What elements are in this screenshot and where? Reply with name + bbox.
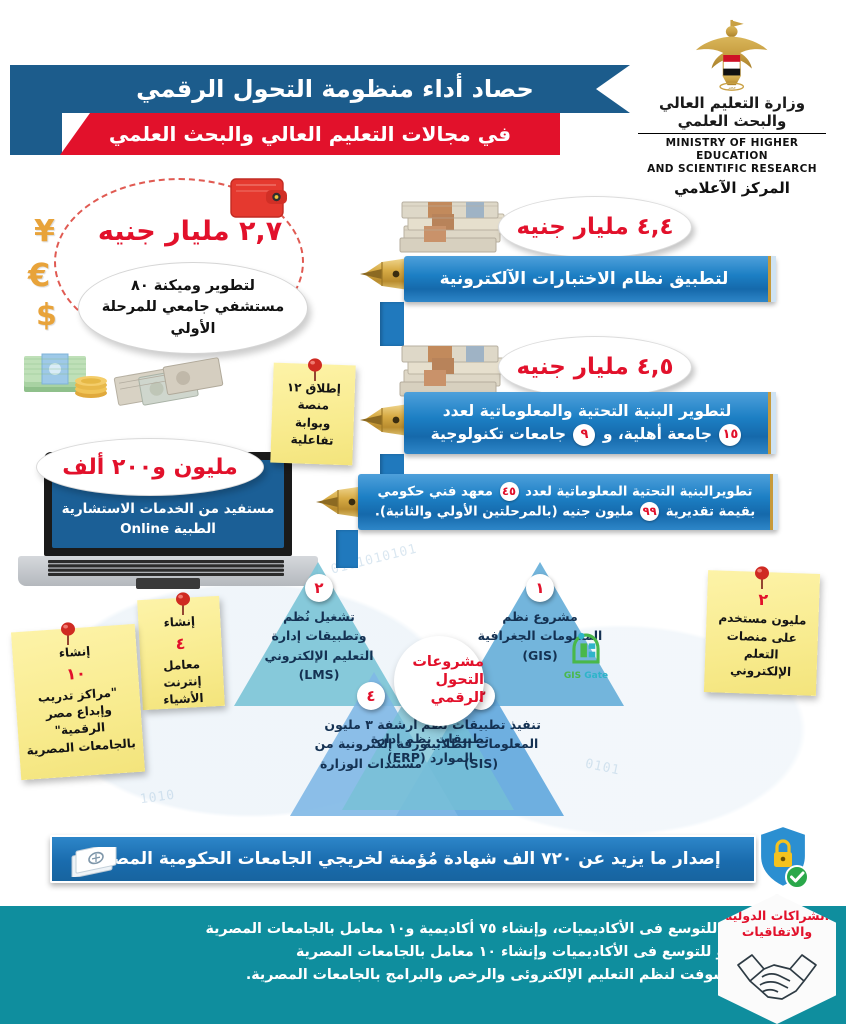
exams-value-oval: ٤,٤ مليار جنيه bbox=[498, 196, 692, 258]
binary-decor: 1010 bbox=[139, 788, 176, 808]
online-services-text: مستفيد من الخدمات الاستشارية الطبية Onli… bbox=[52, 499, 284, 540]
infrastructure-bar-mid: جامعة أهلية، و bbox=[603, 425, 712, 443]
triangle-item-2-label: تشغيل نُظم وتطبيقات إدارة التعليم الإلكت… bbox=[264, 609, 373, 682]
infrastructure-bar-line1: لتطوير البنية التحتية والمعلوماتية لعدد bbox=[443, 400, 732, 423]
bar-cap-gold bbox=[768, 392, 771, 454]
yen-symbol-icon: ¥ bbox=[34, 214, 55, 249]
bar-cap-light bbox=[773, 474, 778, 530]
exams-bar-text: لتطبيق نظام الاختبارات الآلكترونية bbox=[440, 269, 741, 289]
header-title-banner: حصاد أداء منظومة التحول الرقمي bbox=[10, 65, 630, 113]
elearning-note-number: ٢ bbox=[714, 586, 813, 613]
institutes-line2-pre: بقيمة تقديرية bbox=[666, 505, 755, 520]
bar-cap-gold bbox=[770, 474, 773, 530]
laptop-trackpad bbox=[136, 578, 200, 589]
platforms-note-text: إطلاق ١٢ منصة وبوابة تفاعلية bbox=[287, 380, 342, 448]
media-center-label: المركز الآعلامي bbox=[632, 179, 832, 197]
institutes-line2-post: مليون جنيه (بالمرحلتين الأولي والثانية). bbox=[375, 505, 634, 520]
badge-9: ٩ bbox=[573, 424, 595, 446]
infrastructure-bar: لتطوير البنية التحتية والمعلوماتية لعدد … bbox=[404, 392, 776, 454]
gis-gate-logo: GIS Gate bbox=[558, 630, 614, 681]
handshake-icon bbox=[734, 947, 820, 1005]
infographic-page: 0101010101 10101 0101 1010 1011010 حصاد … bbox=[0, 0, 846, 1024]
ministry-name-english-line1: MINISTRY OF HIGHER EDUCATION bbox=[632, 137, 832, 163]
ministry-name-english-line2: AND SCIENTIFIC RESEARCH bbox=[632, 163, 832, 176]
euro-symbol-icon: € bbox=[28, 256, 50, 294]
training-note-line2: "مراكز تدريب وإبداع مصر الرقمية" بالجامع… bbox=[22, 683, 137, 760]
gis-gate-logo-text: GIS Gate bbox=[558, 671, 614, 681]
institutes-line1-post: معهد فني حكومي bbox=[378, 484, 493, 499]
wallet-icon bbox=[230, 176, 288, 220]
triangle-center-text: مشروعات التحول الرقمي bbox=[394, 654, 484, 707]
badge-99: ٩٩ bbox=[640, 502, 659, 521]
exams-bar: لتطبيق نظام الاختبارات الآلكترونية bbox=[404, 256, 776, 302]
triangle-item-1-number: ١ bbox=[526, 574, 554, 602]
header-subtitle-banner: في مجالات التعليم العالي والبحث العلمي bbox=[60, 113, 560, 155]
certificates-text: إصدار ما يزيد عن ٧٢٠ الف شهادة مُؤمنة لخ… bbox=[85, 849, 720, 869]
institutes-bar: تطويرالبنية التحتية المعلوماتية لعدد ٤٥ … bbox=[358, 474, 778, 530]
bar-cap-light bbox=[771, 256, 776, 302]
online-services-value: مليون و٢٠٠ ألف bbox=[62, 455, 237, 480]
exams-value: ٤,٤ مليار جنيه bbox=[516, 214, 673, 240]
hospitals-description-oval: لتطوير وميكنة ٨٠ مستشفي جامعي للمرحلة ال… bbox=[78, 262, 308, 354]
exams-bar-wrap: لتطبيق نظام الاختبارات الآلكترونية bbox=[404, 256, 776, 302]
security-shield-icon bbox=[756, 824, 810, 890]
triangle-item-erp: تطبيقات نظم إدارة الموارد (ERP) bbox=[366, 728, 494, 767]
eagle-of-saladin-icon: مصر bbox=[693, 18, 771, 92]
hospitals-description: لتطوير وميكنة ٨٠ مستشفي جامعي للمرحلة ال… bbox=[79, 276, 307, 339]
institutes-bar-wrap: تطويرالبنية التحتية المعلوماتية لعدد ٤٥ … bbox=[358, 474, 778, 530]
pushpin-icon bbox=[58, 620, 78, 646]
money-stack-icon bbox=[398, 196, 510, 258]
pushpin-icon bbox=[752, 564, 772, 590]
triangle-item-4-number: ٤ bbox=[357, 682, 385, 710]
partnerships-badge-line2: والاتفاقيات bbox=[718, 924, 836, 940]
badge-45: ٤٥ bbox=[500, 482, 519, 501]
bar-cap-light bbox=[771, 392, 776, 454]
institutes-bar-line1: تطويرالبنية التحتية المعلوماتية لعدد ٤٥ … bbox=[378, 482, 753, 502]
ministry-logo: مصر وزارة التعليم العالي والبحث العلمي M… bbox=[632, 18, 832, 197]
certificate-document-icon bbox=[68, 847, 120, 877]
badge-15: ١٥ bbox=[719, 424, 741, 446]
iot-note-number: ٤ bbox=[146, 631, 215, 658]
digital-transformation-triangle: ١ مشروع نظم المعلومات الجغرافية (GIS) ٢ … bbox=[222, 548, 634, 828]
elearning-note-text: مليون مستخدم على منصات التعلم الإلكتروني bbox=[711, 609, 811, 682]
triangle-item-2-number: ٢ bbox=[305, 574, 333, 602]
coins-icon bbox=[72, 372, 110, 398]
svg-text:مصر: مصر bbox=[727, 84, 736, 89]
infrastructure-bar-post: جامعات تكنولوجية bbox=[431, 425, 566, 443]
dollar-symbol-icon: $ bbox=[36, 298, 57, 333]
iot-note-line2: معامل إنترنت الأشياء bbox=[147, 655, 218, 711]
certificates-bar: إصدار ما يزيد عن ٧٢٠ الف شهادة مُؤمنة لخ… bbox=[50, 835, 756, 883]
institutes-line1-pre: تطويرالبنية التحتية المعلوماتية لعدد bbox=[525, 484, 752, 499]
institutes-bar-line2: بقيمة تقديرية ٩٩ مليون جنيه (بالمرحلتين … bbox=[375, 502, 755, 522]
triangle-center-label: مشروعات التحول الرقمي bbox=[394, 636, 484, 726]
online-services-value-oval: مليون و٢٠٠ ألف bbox=[36, 438, 264, 496]
infrastructure-bar-line2: ١٥ جامعة أهلية، و ٩ جامعات تكنولوجية bbox=[431, 423, 744, 446]
triangle-item-erp-label: تطبيقات نظم إدارة الموارد (ERP) bbox=[371, 731, 489, 765]
hospitals-value: ٢,٧ مليار جنيه bbox=[80, 216, 300, 247]
pushpin-icon bbox=[173, 590, 193, 616]
sticky-note-training-centers: إنشاء ١٠ "مراكز تدريب وإبداع مصر الرقمية… bbox=[11, 624, 145, 780]
triangle-item-2: ٢ تشغيل نُظم وتطبيقات إدارة التعليم الإل… bbox=[254, 574, 384, 683]
infrastructure-value-oval: ٤,٥ مليار جنيه bbox=[498, 336, 692, 398]
banknotes-icon bbox=[110, 356, 234, 412]
bar-cap-gold bbox=[768, 256, 771, 302]
ministry-name-arabic: وزارة التعليم العالي والبحث العلمي bbox=[638, 94, 826, 134]
page-subtitle: في مجالات التعليم العالي والبحث العلمي bbox=[109, 122, 511, 146]
pushpin-icon bbox=[305, 356, 325, 382]
infrastructure-bar-wrap: لتطوير البنية التحتية والمعلوماتية لعدد … bbox=[404, 392, 776, 454]
page-title: حصاد أداء منظومة التحول الرقمي bbox=[106, 75, 534, 103]
infrastructure-value: ٤,٥ مليار جنيه bbox=[516, 354, 673, 380]
